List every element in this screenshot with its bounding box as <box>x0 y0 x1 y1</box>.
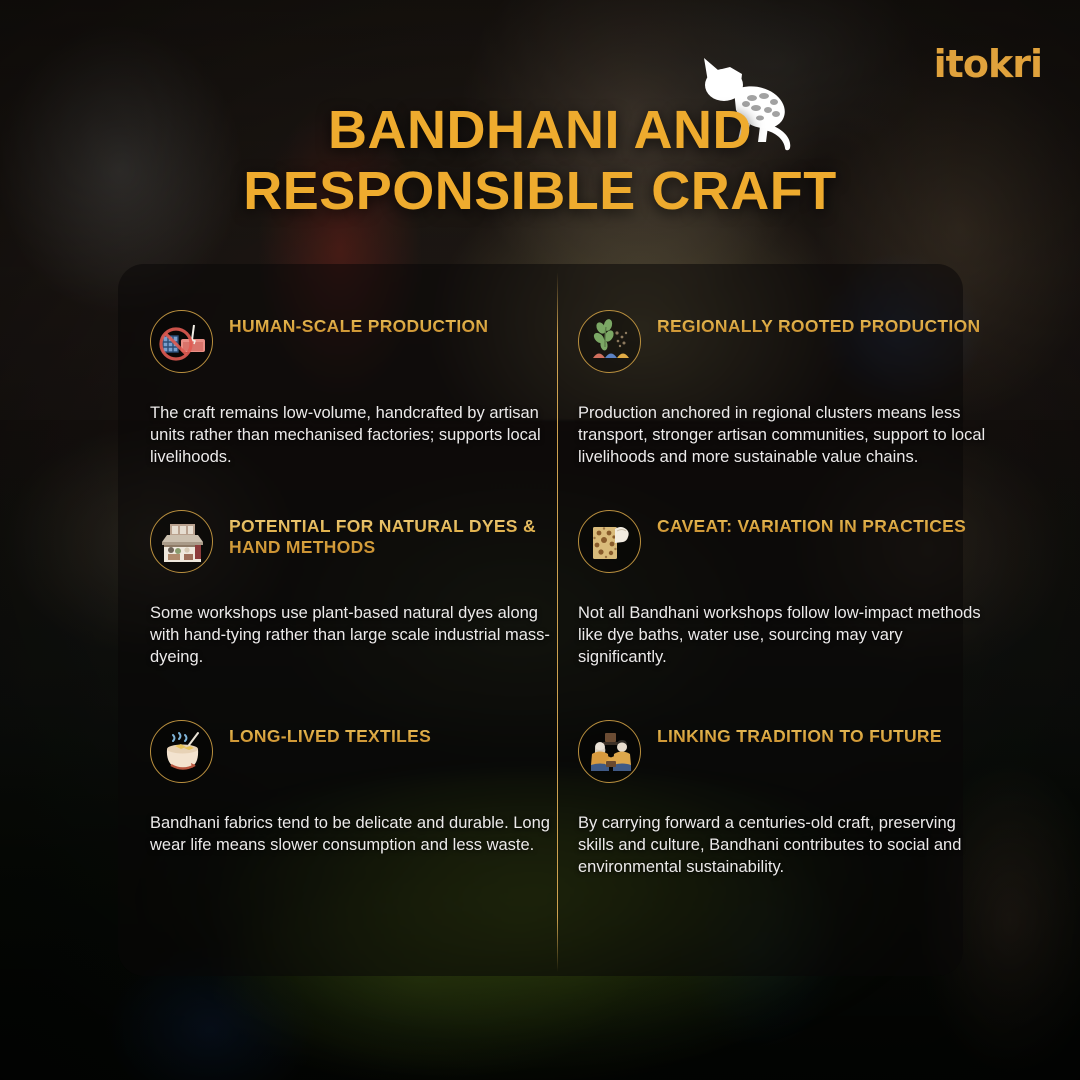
block-body: By carrying forward a centuries-old craf… <box>578 813 986 878</box>
block-body: Bandhani fabrics tend to be delicate and… <box>150 813 558 857</box>
block-header: POTENTIAL FOR NATURAL DYES & HAND METHOD… <box>150 510 558 573</box>
block-caveat-variation-in-practices: CAVEAT: VARIATION IN PRACTICES Not all B… <box>578 510 986 668</box>
block-header: HUMAN-SCALE PRODUCTION <box>150 310 558 373</box>
steaming-dye-pot-icon <box>150 720 213 783</box>
block-heading: LINKING TRADITION TO FUTURE <box>657 720 942 747</box>
artisan-workshop-icon <box>150 510 213 573</box>
block-long-lived-textiles: LONG-LIVED TEXTILES Bandhani fabrics ten… <box>150 720 558 857</box>
block-human-scale-production: HUMAN-SCALE PRODUCTION The craft remains… <box>150 310 558 468</box>
blocks-grid: HUMAN-SCALE PRODUCTION The craft remains… <box>118 264 963 976</box>
block-body: The craft remains low-volume, handcrafte… <box>150 403 558 468</box>
block-heading: POTENTIAL FOR NATURAL DYES & HAND METHOD… <box>229 510 558 559</box>
infographic-poster: itokri BANDHANI AND RESPONSIBLE CRAFT <box>0 0 1080 1080</box>
block-header: LINKING TRADITION TO FUTURE <box>578 720 986 783</box>
block-linking-tradition-to-future: LINKING TRADITION TO FUTURE By carrying … <box>578 720 986 878</box>
page-title: BANDHANI AND RESPONSIBLE CRAFT <box>0 100 1080 222</box>
block-body: Not all Bandhani workshops follow low-im… <box>578 603 986 668</box>
block-heading: LONG-LIVED TEXTILES <box>229 720 431 747</box>
page-title-line-1: BANDHANI AND <box>328 100 752 160</box>
block-heading: REGIONALLY ROOTED PRODUCTION <box>657 310 980 337</box>
no-factory-icon <box>150 310 213 373</box>
block-body: Some workshops use plant-based natural d… <box>150 603 558 668</box>
hand-holding-fabric-icon <box>578 510 641 573</box>
block-heading: HUMAN-SCALE PRODUCTION <box>229 310 488 337</box>
natural-dye-leaves-icon <box>578 310 641 373</box>
block-body: Production anchored in regional clusters… <box>578 403 986 468</box>
two-artisans-icon <box>578 720 641 783</box>
block-header: LONG-LIVED TEXTILES <box>150 720 558 783</box>
block-natural-dyes-hand-methods: POTENTIAL FOR NATURAL DYES & HAND METHOD… <box>150 510 558 668</box>
page-title-line-2: RESPONSIBLE CRAFT <box>0 161 1080 222</box>
block-header: CAVEAT: VARIATION IN PRACTICES <box>578 510 986 573</box>
itokri-logo[interactable]: itokri <box>934 42 1042 86</box>
block-heading: CAVEAT: VARIATION IN PRACTICES <box>657 510 966 537</box>
block-regionally-rooted-production: REGIONALLY ROOTED PRODUCTION Production … <box>578 310 986 468</box>
block-header: REGIONALLY ROOTED PRODUCTION <box>578 310 986 373</box>
